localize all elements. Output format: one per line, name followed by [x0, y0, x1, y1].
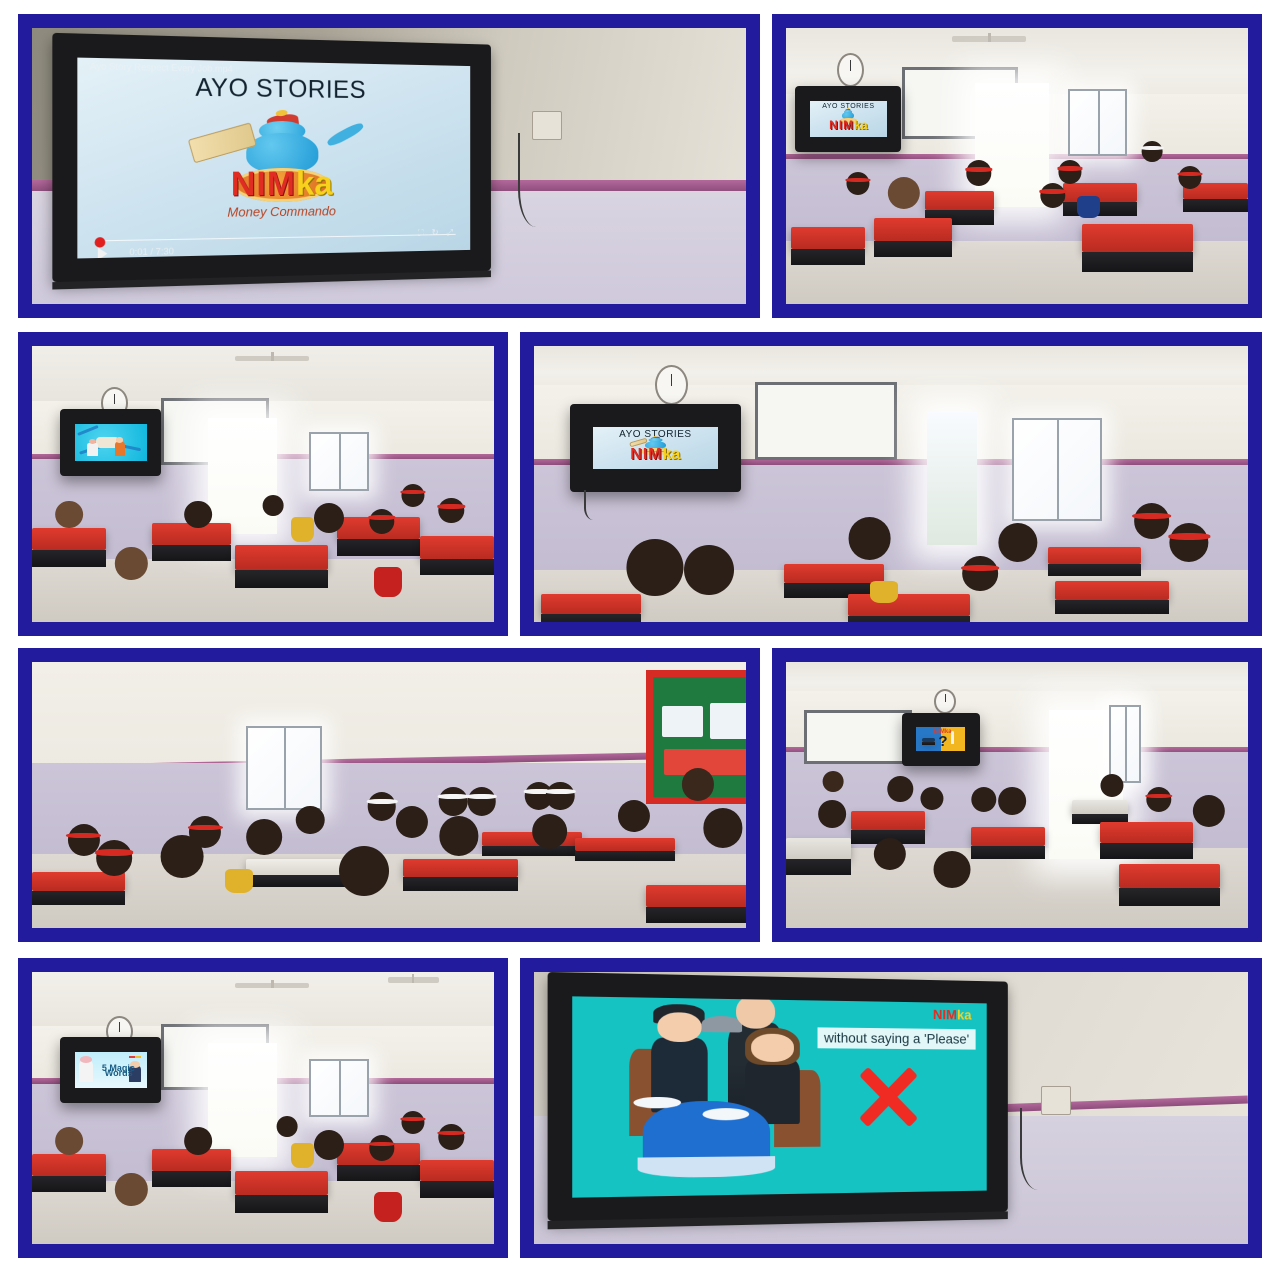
student-desk	[1072, 800, 1127, 813]
window	[1068, 89, 1127, 156]
student-desk	[1100, 822, 1192, 843]
panel-2-photo: AYO STORIES NIMka	[786, 28, 1248, 304]
brand-accent: ka	[957, 1007, 971, 1023]
collage-panel-8[interactable]: NIMka without saying a 'Please'	[520, 958, 1262, 1258]
brand-main: NIM	[630, 446, 662, 463]
student-desk	[235, 545, 327, 570]
play-icon[interactable]	[98, 248, 108, 258]
interactive-flat-panel[interactable]: Ayo Story Respect Every Job.mp4 AYO STOR…	[52, 33, 490, 283]
wall-tv[interactable]: NIMka ?	[902, 713, 981, 766]
panel-5-photo	[32, 662, 746, 928]
school-bag	[291, 517, 314, 542]
collage-panel-5[interactable]	[18, 648, 760, 942]
video-screen[interactable]: Ayo Story Respect Every Job.mp4 AYO STOR…	[77, 57, 470, 258]
student-desk	[646, 885, 746, 906]
video-screen[interactable]: AYO STORIES NIMka	[593, 427, 719, 470]
wall-tv[interactable]: 5 Magic Words	[60, 1037, 162, 1102]
student-desk	[848, 594, 969, 616]
five-magic-words-screen: 5 Magic Words	[75, 1052, 147, 1088]
student-desk	[420, 1160, 494, 1182]
wall-clock-icon	[934, 689, 956, 714]
panel-3-photo	[32, 346, 494, 622]
progress-bar[interactable]	[94, 234, 455, 241]
panel-7-photo: 5 Magic Words	[32, 972, 494, 1244]
video-screen[interactable]: NIMka without saying a 'Please'	[572, 997, 987, 1198]
collage-panel-2[interactable]: AYO STORIES NIMka	[772, 14, 1262, 318]
please-scene-screen: NIMka without saying a 'Please'	[572, 997, 987, 1198]
classroom-scene: NIMka ?	[786, 662, 1248, 928]
student-desk	[575, 838, 675, 851]
question-screen: NIMka ?	[916, 727, 965, 751]
student-desk	[1119, 864, 1221, 888]
classroom-scene	[32, 662, 746, 928]
progress-handle[interactable]	[94, 237, 105, 248]
power-cable	[584, 490, 607, 520]
student-desk	[1048, 547, 1141, 564]
student-desk	[32, 1154, 106, 1176]
ayo-stories-titlecard: AYO STORIES NIMka	[810, 101, 887, 138]
brand-main: NIM	[230, 165, 295, 204]
window	[309, 1059, 368, 1117]
collage-panel-7[interactable]: 5 Magic Words	[18, 958, 508, 1258]
brand-accent: ka	[295, 165, 332, 203]
student-desk	[403, 859, 517, 878]
school-bag	[374, 1192, 402, 1222]
whiteboard	[804, 710, 912, 764]
red-cross-icon	[849, 1065, 929, 1130]
student-desk	[541, 594, 641, 613]
brand-tagline: Money Commando	[102, 202, 448, 221]
video-timestamp: 0:01 / 7:30	[129, 246, 174, 257]
question-mark-icon: ?	[938, 733, 947, 750]
student-desk	[925, 191, 994, 210]
video-screen[interactable]	[75, 424, 147, 461]
window	[1109, 705, 1141, 783]
photo-collage: Ayo Story Respect Every Job.mp4 AYO STOR…	[0, 0, 1280, 1280]
classroom-scene: 5 Magic Words	[32, 972, 494, 1244]
ceiling-fan-icon	[388, 977, 439, 982]
power-cable	[518, 133, 563, 227]
wall-clock-icon	[837, 53, 864, 87]
collage-panel-3[interactable]	[18, 332, 508, 636]
cartoon-scene-screen	[75, 424, 147, 461]
brand-main: NIM	[829, 118, 854, 132]
student-desk	[1063, 183, 1137, 202]
doorway	[975, 83, 1049, 207]
school-bag	[870, 581, 899, 603]
student-desk	[971, 827, 1045, 846]
school-bag	[291, 1143, 314, 1167]
classroom-scene: Ayo Story Respect Every Job.mp4 AYO STOR…	[32, 28, 746, 304]
classroom-scene: NIMka without saying a 'Please'	[534, 972, 1248, 1244]
nimka-logo: NIMka	[815, 116, 883, 134]
collage-panel-1[interactable]: Ayo Story Respect Every Job.mp4 AYO STOR…	[18, 14, 760, 318]
ayo-stories-titlecard: Ayo Story Respect Every Job.mp4 AYO STOR…	[77, 57, 470, 258]
ceiling-fan-icon	[235, 983, 309, 988]
nimka-logo: NIMka	[933, 1007, 972, 1023]
ceiling-fan-icon	[235, 356, 309, 362]
brand-main: NIM	[933, 1007, 957, 1023]
student-desk	[1055, 581, 1169, 600]
student-desk	[420, 536, 494, 558]
scene-caption: without saying a 'Please'	[818, 1028, 976, 1050]
classroom-scene: AYO STORIES NIMka	[534, 346, 1248, 622]
window	[246, 726, 321, 810]
collage-panel-6[interactable]: NIMka ?	[772, 648, 1262, 942]
school-bag	[1077, 196, 1100, 218]
screen-title-line2: Words	[105, 1069, 133, 1078]
school-bag	[374, 567, 402, 597]
video-screen[interactable]: AYO STORIES NIMka	[810, 101, 887, 138]
brand-accent: ka	[854, 118, 867, 132]
student-desk	[851, 811, 925, 830]
collage-panel-4[interactable]: AYO STORIES NIMka	[520, 332, 1262, 636]
ayo-stories-titlecard: AYO STORIES NIMka	[593, 427, 719, 470]
panel-4-photo: AYO STORIES NIMka	[534, 346, 1248, 622]
student-desk	[791, 227, 865, 249]
student-desk	[784, 564, 884, 583]
video-screen[interactable]: 5 Magic Words	[75, 1052, 147, 1088]
wall-tv[interactable]: AYO STORIES NIMka	[795, 86, 901, 152]
student-desk	[235, 1171, 327, 1195]
doorway	[208, 418, 277, 534]
doorway	[208, 1043, 277, 1157]
panel-8-photo: NIMka without saying a 'Please'	[534, 972, 1248, 1244]
screen-title: AYO STORIES	[77, 71, 470, 106]
student-desk	[786, 838, 851, 859]
whiteboard	[755, 382, 897, 460]
video-screen[interactable]: NIMka ?	[916, 727, 965, 751]
panel-1-photo: Ayo Story Respect Every Job.mp4 AYO STOR…	[32, 28, 746, 304]
wall-tv[interactable]: AYO STORIES NIMka	[570, 404, 741, 492]
ceiling-fan-icon	[952, 36, 1026, 42]
student-desk	[1082, 224, 1193, 252]
classroom-scene: AYO STORIES NIMka	[786, 28, 1248, 304]
window	[1012, 418, 1102, 521]
panel-6-photo: NIMka ?	[786, 662, 1248, 928]
player-icons[interactable]: ⛶ ↻ ⤢	[417, 227, 455, 238]
power-cable	[1020, 1108, 1065, 1190]
student-desk	[32, 528, 106, 550]
window	[309, 432, 368, 491]
doorway	[927, 412, 977, 544]
interactive-flat-panel[interactable]: NIMka without saying a 'Please'	[548, 972, 1008, 1221]
brand-accent: ka	[663, 446, 681, 463]
nimka-logo: NIMka	[600, 446, 711, 464]
classroom-scene	[32, 346, 494, 622]
professor-character-icon	[79, 1061, 93, 1082]
wall-clock-icon	[655, 365, 688, 405]
wall-tv[interactable]	[60, 409, 162, 475]
student-desk	[874, 218, 953, 240]
video-controls[interactable]: 0:01 / 7:30 ⛶ ↻ ⤢	[94, 231, 455, 245]
school-bag	[225, 869, 254, 893]
nimka-logo: NIMka Money Commando	[102, 165, 448, 222]
